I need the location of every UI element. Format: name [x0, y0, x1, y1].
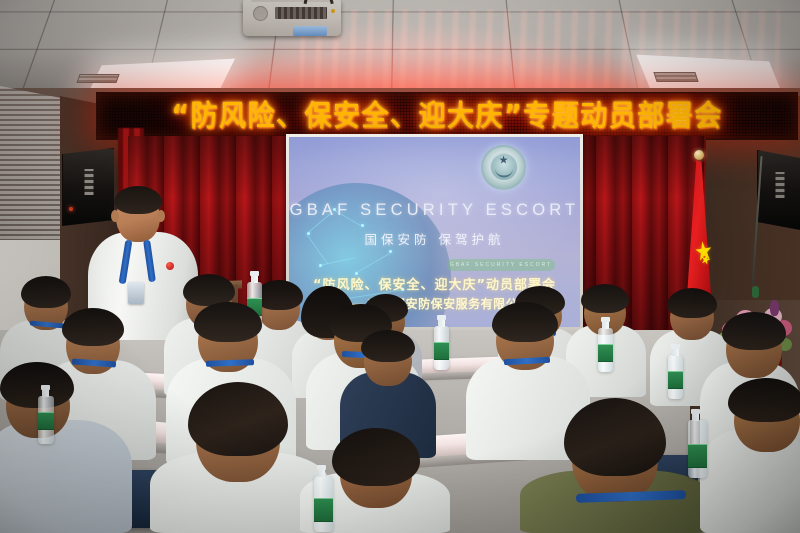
audience-torso	[0, 420, 132, 533]
audience-hair	[332, 428, 420, 486]
emblem-star-icon: ★	[499, 155, 509, 166]
audience-hair	[255, 280, 303, 310]
audience-hair	[667, 288, 717, 318]
screen-ribbon-text: GBAF SECURITY ESCORT	[447, 259, 555, 271]
speaker-grille-right	[775, 172, 784, 198]
screen-title-english: GBAF SECURITY ESCORT	[289, 201, 580, 220]
audience-hair	[62, 308, 124, 346]
presenter-party-pin	[166, 262, 174, 270]
projector-cable-b	[327, 0, 333, 4]
bottle-label	[688, 444, 707, 468]
screen-title-chinese: 国保安防 保驾护航	[289, 229, 580, 248]
bottle-label	[434, 342, 449, 360]
audience-hair	[361, 330, 415, 362]
audience-hair	[0, 362, 74, 408]
ceiling	[0, 0, 800, 92]
screen-ribbon-band: GBAF SECURITY ESCORT	[447, 259, 555, 271]
water-bottle	[314, 476, 333, 532]
flag-cord-weight	[752, 286, 759, 298]
bottle-cap	[437, 315, 446, 320]
audience-hair	[492, 302, 558, 342]
projector-port-panel	[275, 7, 327, 19]
speaker-power-led-left	[69, 207, 73, 211]
flagpole-finial	[694, 150, 704, 160]
ceiling-vent-right	[653, 72, 698, 82]
presenter-id-badge	[128, 282, 144, 304]
projector-focus-knob	[253, 6, 268, 21]
flower-spike	[770, 300, 779, 316]
audience-hair	[722, 312, 786, 350]
water-bottle	[434, 326, 449, 370]
bottle-label	[38, 412, 54, 430]
bottle-label	[668, 371, 683, 389]
presenter-ear-left	[111, 210, 119, 222]
projector-indicator-amber	[331, 9, 335, 13]
bottle-cap	[41, 385, 50, 390]
network-node	[361, 224, 364, 227]
audience-hair	[581, 284, 629, 313]
bottle-cap	[671, 344, 680, 349]
bottle-cap	[601, 317, 610, 322]
ceiling-projector	[243, 0, 341, 36]
audience-hair	[728, 378, 800, 422]
speaker-grille-left	[85, 169, 94, 195]
projector-lens	[293, 26, 327, 36]
audience-hair	[194, 302, 262, 342]
ceiling-vent-left	[76, 74, 119, 83]
presenter-hair	[114, 186, 162, 214]
bottle-label	[314, 498, 333, 522]
led-banner: “防风险、保安全、迎大庆”专题动员部署会	[96, 92, 798, 140]
bottle-cap	[250, 271, 259, 276]
security-badge-emblem: ★	[481, 145, 526, 190]
led-banner-text: “防风险、保安全、迎大庆”专题动员部署会	[171, 101, 723, 130]
meeting-room-photo: “防风险、保安全、迎大庆”专题动员部署会	[0, 0, 800, 533]
presenter-ear-right	[157, 210, 165, 222]
water-bottle	[38, 396, 54, 444]
water-bottle	[668, 355, 683, 399]
bottle-cap	[691, 409, 700, 414]
water-bottle	[598, 328, 613, 372]
bottle-cap	[317, 465, 326, 470]
projector-cable-a	[304, 0, 310, 4]
water-bottle	[688, 420, 707, 478]
bottle-label	[598, 344, 613, 362]
wall-speaker-right	[757, 150, 800, 232]
wall-speaker-left	[62, 148, 116, 228]
audience-hair	[21, 276, 71, 308]
